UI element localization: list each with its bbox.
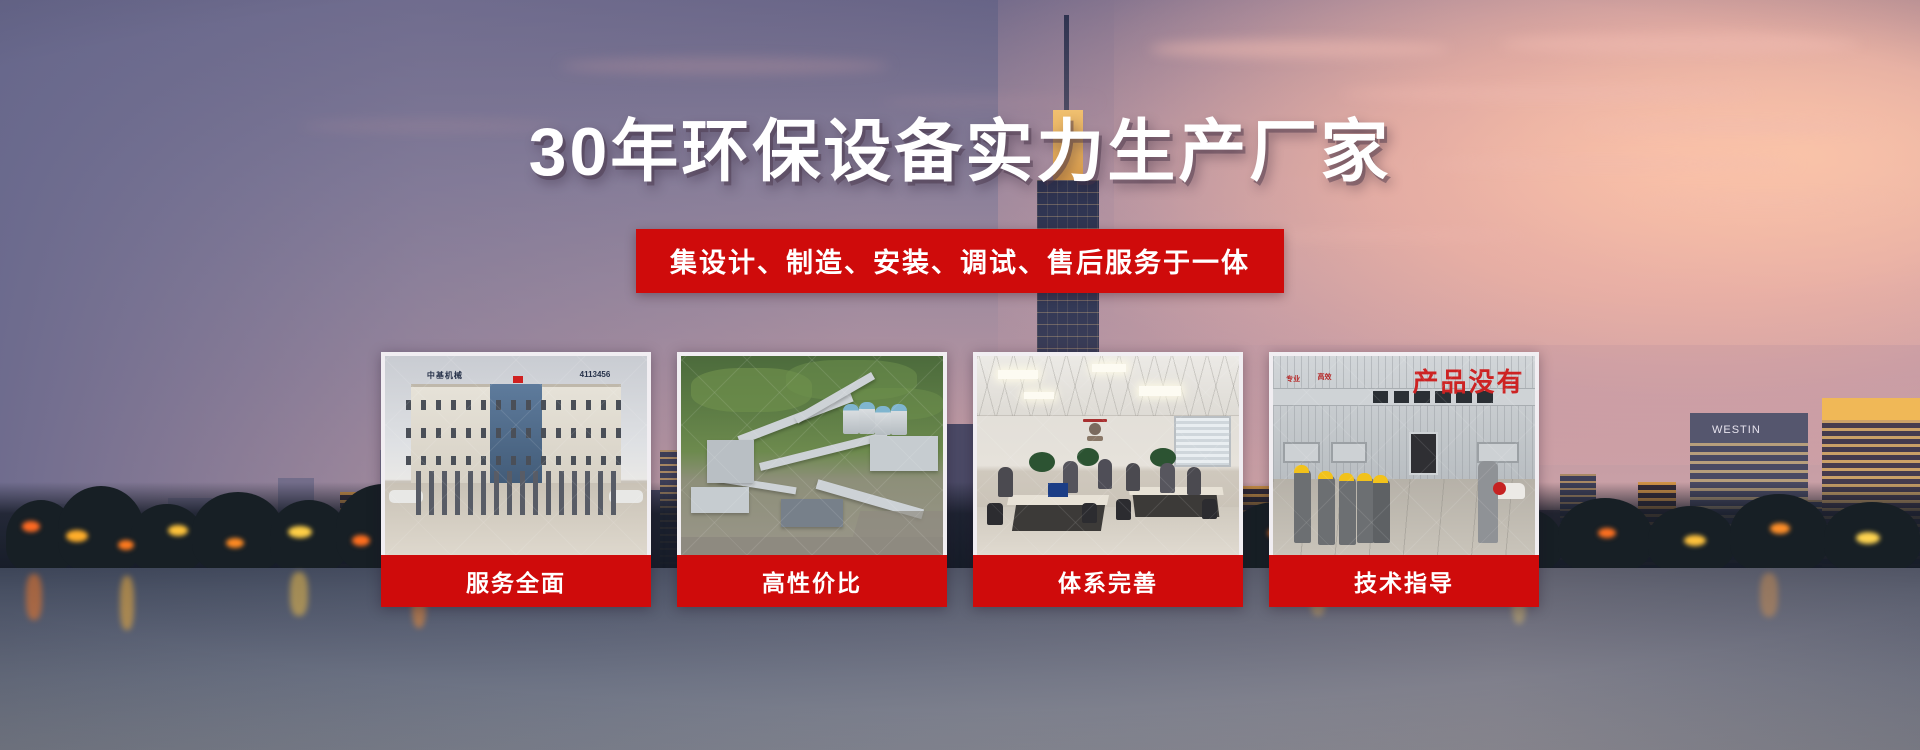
page-title: 30年环保设备实力生产厂家 [0, 118, 1920, 186]
feature-card-label: 服务全面 [381, 555, 651, 607]
company-headquarters-building-photo: 中基机械 4113456 [381, 352, 651, 555]
feature-card-list: 中基机械 4113456 服务全面 [381, 352, 1539, 607]
office-interior-staff-photo [973, 352, 1243, 555]
feature-card-label: 技术指导 [1269, 555, 1539, 607]
subtitle-text: 集设计、制造、安装、调试、售后服务于一体 [670, 248, 1250, 278]
factory-wall-slogan: 产品没有 [1413, 362, 1525, 399]
feature-card[interactable]: 体系完善 [973, 352, 1243, 607]
feature-card[interactable]: 中基机械 4113456 服务全面 [381, 352, 651, 607]
building-sign-label: 中基机械 [427, 370, 463, 381]
building-phone-label: 4113456 [580, 370, 611, 379]
factory-side-slogan-2: 高效 [1318, 372, 1332, 382]
feature-card[interactable]: 高性价比 [677, 352, 947, 607]
westin-sign-label: WESTIN [1712, 424, 1761, 436]
wall-logo-icon [1077, 418, 1113, 444]
feature-card[interactable]: 产品没有 专业 高效 [1269, 352, 1539, 607]
feature-card-label: 高性价比 [677, 555, 947, 607]
factory-workers-training-photo: 产品没有 专业 高效 [1269, 352, 1539, 555]
subtitle-banner: 集设计、制造、安装、调试、售后服务于一体 [636, 229, 1284, 293]
feature-card-label: 体系完善 [973, 555, 1243, 607]
hero-banner: WESTIN [0, 0, 1920, 750]
aerial-industrial-plant-photo [677, 352, 947, 555]
factory-side-slogan-1: 专业 [1286, 374, 1300, 384]
